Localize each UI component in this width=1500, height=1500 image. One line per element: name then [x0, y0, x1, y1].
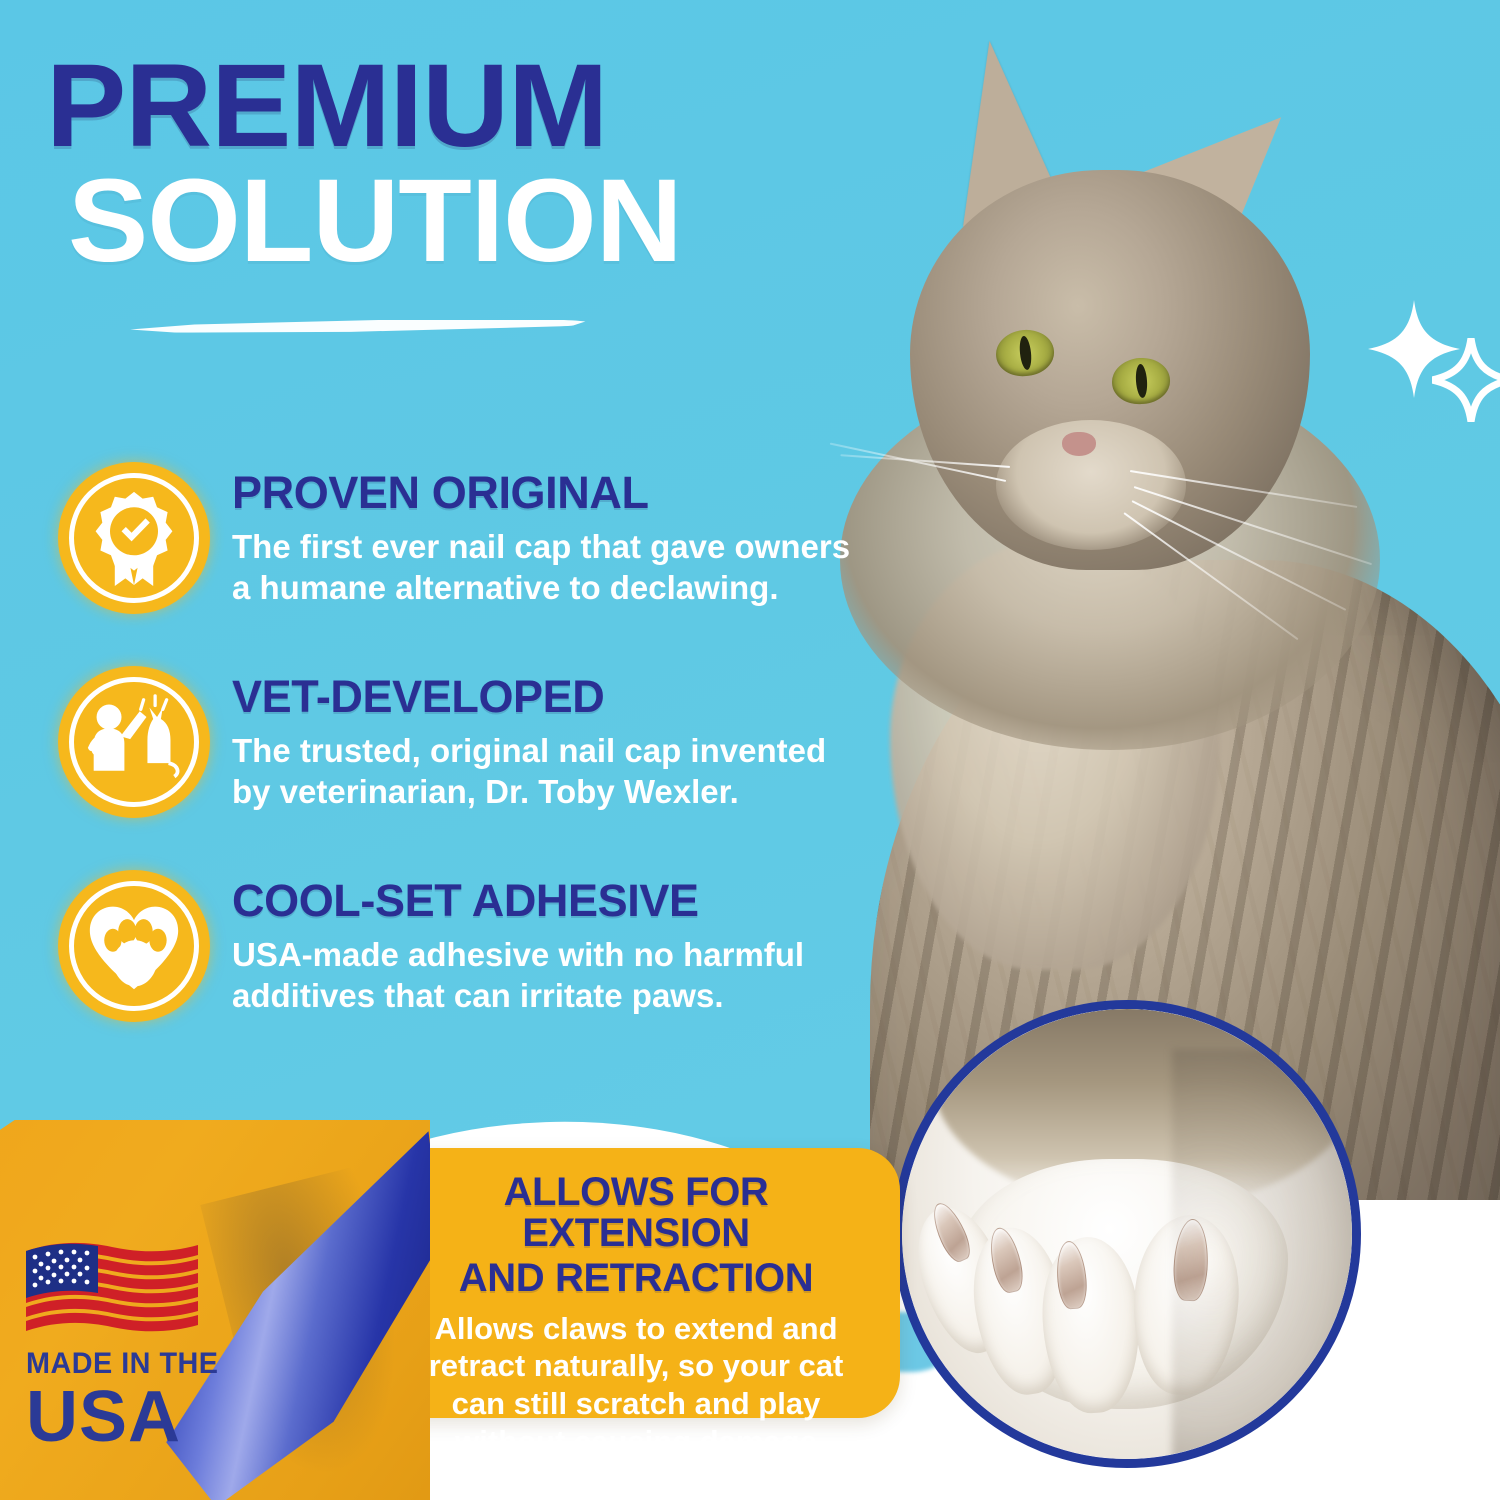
sparkle-outline-icon [1432, 338, 1500, 422]
cat-paw-inset [893, 1000, 1361, 1468]
made-in-usa-line-1: MADE IN THE [26, 1349, 266, 1379]
feature-title: VET-DEVELOPED [232, 674, 868, 720]
feature-description: USA-made adhesive with no harmful additi… [232, 934, 868, 1017]
callout-extension-retraction: ALLOWS FOR EXTENSION AND RETRACTION Allo… [372, 1148, 900, 1418]
cat-nose [1062, 432, 1096, 456]
headline-block: PREMIUM SOLUTION [46, 52, 866, 278]
product-infographic: PREMIUM SOLUTION PROVEN ORIGI [0, 0, 1500, 1500]
award-ribbon-check-icon [58, 462, 210, 614]
callout-title-line-1: ALLOWS FOR EXTENSION [398, 1172, 874, 1254]
feature-title: PROVEN ORIGINAL [232, 470, 868, 516]
feature-description: The first ever nail cap that gave owners… [232, 526, 868, 609]
usa-flag-icon [26, 1237, 198, 1333]
feature-title: COOL-SET ADHESIVE [232, 878, 868, 924]
feature-item-proven-original: PROVEN ORIGINAL The first ever nail cap … [58, 462, 868, 614]
heart-paw-icon [58, 870, 210, 1022]
headline-line-2: SOLUTION [68, 165, 882, 278]
vet-high-five-cat-icon [58, 666, 210, 818]
callout-description: Allows claws to extend and retract natur… [398, 1310, 874, 1461]
feature-list: PROVEN ORIGINAL The first ever nail cap … [58, 462, 868, 1074]
feature-item-vet-developed: VET-DEVELOPED The trusted, original nail… [58, 666, 868, 818]
headline-line-1: PREMIUM [46, 52, 882, 161]
made-in-usa-badge: MADE IN THE USA [26, 1237, 276, 1454]
made-in-usa-line-2: USA [26, 1381, 276, 1454]
paw-side-fur [1172, 1049, 1352, 1459]
callout-title-line-2: AND RETRACTION [398, 1258, 874, 1299]
feature-description: The trusted, original nail cap invented … [232, 730, 868, 813]
feature-item-cool-set-adhesive: COOL-SET ADHESIVE USA-made adhesive with… [58, 870, 868, 1022]
